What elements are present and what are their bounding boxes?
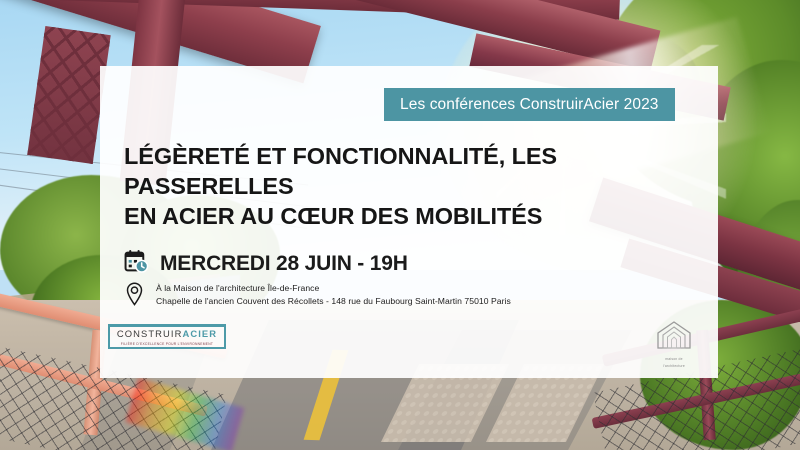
address-line-1: À la Maison de l'architecture Île-de-Fra… xyxy=(156,282,511,295)
event-address: À la Maison de l'architecture Île-de-Fra… xyxy=(156,282,511,307)
map-pin-icon xyxy=(126,282,143,311)
logo-word-accent: ACIER xyxy=(182,328,217,339)
maison-architecture-line-2: l'architecture xyxy=(646,364,702,369)
logo-word-dark: CONSTRUIR xyxy=(117,328,183,339)
maison-architecture-line-1: maison de xyxy=(646,357,702,362)
address-line-2: Chapelle de l'ancien Couvent des Récolle… xyxy=(156,295,511,308)
conference-series-banner: Les conférences ConstruirAcier 2023 xyxy=(384,88,675,121)
event-date-row: MERCREDI 28 JUIN - 19H xyxy=(124,249,408,279)
poster: Les conférences ConstruirAcier 2023 LÉGÈ… xyxy=(0,0,800,450)
conference-series-label: Les conférences ConstruirAcier 2023 xyxy=(400,96,659,114)
title-line-1: LÉGÈRETÉ ET FONCTIONNALITÉ, LES PASSEREL… xyxy=(124,141,704,201)
construiracier-logo[interactable]: CONSTRUIRACIER FILIÈRE D'EXCELLENCE POUR… xyxy=(108,324,226,349)
logo-strip: CONSTRUIRACIER FILIÈRE D'EXCELLENCE POUR… xyxy=(100,318,718,378)
construiracier-tagline: FILIÈRE D'EXCELLENCE POUR L'ENVIRONNEMEN… xyxy=(116,342,218,346)
page-title: LÉGÈRETÉ ET FONCTIONNALITÉ, LES PASSEREL… xyxy=(124,141,704,231)
event-location-row: À la Maison de l'architecture Île-de-Fra… xyxy=(126,282,511,311)
title-line-2: EN ACIER AU CŒUR DES MOBILITÉS xyxy=(124,201,704,231)
maison-architecture-logo[interactable]: maison de l'architecture xyxy=(646,320,702,369)
event-date-text: MERCREDI 28 JUIN - 19H xyxy=(160,252,408,276)
house-outline-icon xyxy=(654,337,694,354)
calendar-clock-icon xyxy=(124,249,149,279)
content-card: Les conférences ConstruirAcier 2023 LÉGÈ… xyxy=(100,66,718,378)
construiracier-wordmark: CONSTRUIRACIER xyxy=(116,328,218,339)
